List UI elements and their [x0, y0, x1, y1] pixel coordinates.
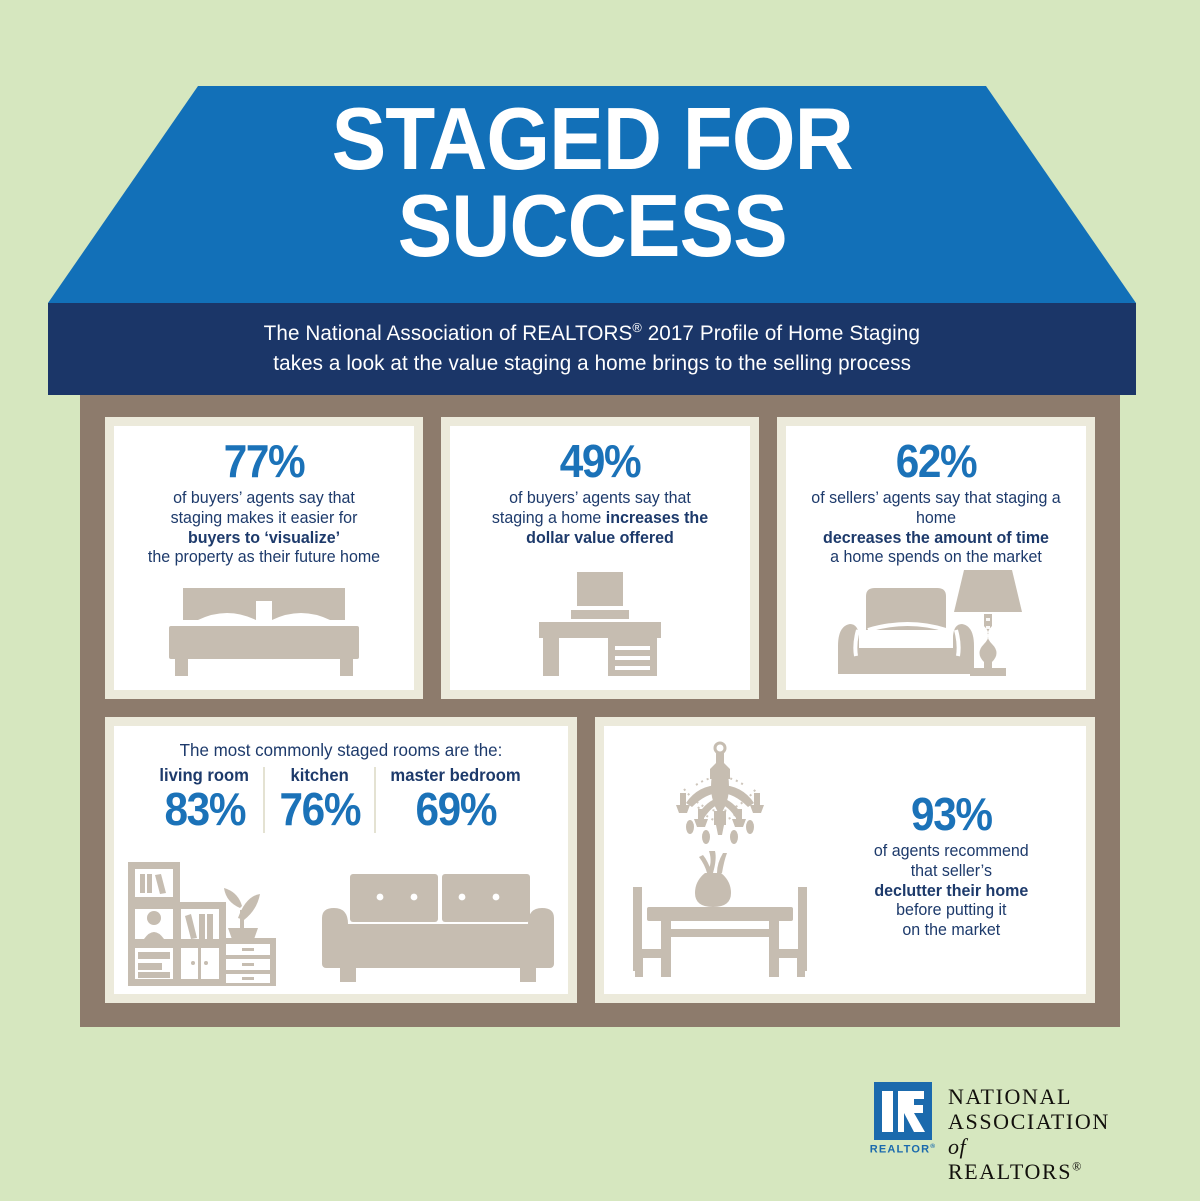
- stat-percent-93: 93%: [845, 791, 1059, 837]
- stat-card-declutter: 93% of agents recommend that seller’s de…: [595, 717, 1095, 1003]
- declutter-line-4: before putting it: [897, 901, 1007, 919]
- dining-table-icon: [631, 849, 809, 979]
- nar-logo-line-3-reg: ®: [1072, 1160, 1083, 1174]
- staged-rooms-row: living room 83% kitchen 76% master bedro…: [114, 767, 568, 833]
- nar-logo-line-3-text: REALTORS: [948, 1159, 1072, 1184]
- armchair-lamp-icon-area: [786, 568, 1086, 692]
- stats-grid: 77% of buyers’ agents say that staging m…: [80, 395, 1120, 1027]
- declutter-text: of agents recommend that seller’s declut…: [839, 842, 1065, 941]
- room-living-room: living room 83%: [146, 767, 262, 833]
- realtor-wordmark-text: REALTOR: [870, 1144, 931, 1156]
- declutter-inner: 93% of agents recommend that seller’s de…: [604, 726, 1086, 994]
- nar-logo-text: NATIONAL ASSOCIATION of REALTORS®: [948, 1082, 1112, 1184]
- desk-icon: [535, 570, 665, 678]
- stat-line-1: of buyers’ agents say that: [509, 489, 691, 507]
- room-percent-living-room: 83%: [164, 785, 245, 833]
- room-percent-master-bedroom: 69%: [416, 785, 497, 833]
- stats-row-bottom: The most commonly staged rooms are the: …: [105, 717, 1095, 1003]
- stat-line-1: of sellers’ agents say that staging a ho…: [811, 489, 1060, 527]
- declutter-icon-area: [604, 741, 835, 979]
- stat-text-dollar-value: of buyers’ agents say that staging a hom…: [455, 489, 746, 548]
- subtitle-band: The National Association of REALTORS® 20…: [48, 303, 1136, 395]
- room-master-bedroom: master bedroom 69%: [374, 767, 535, 833]
- realtor-r-icon: [874, 1082, 932, 1140]
- stat-card-dollar-value: 49% of buyers’ agents say that staging a…: [441, 417, 759, 699]
- stat-card-time-on-market: 62% of sellers’ agents say that staging …: [777, 417, 1095, 699]
- bed-icon-area: [114, 568, 414, 690]
- nar-logo-line-2-a: ASSOCIATION: [948, 1109, 1110, 1134]
- stat-line-3-bold: buyers to ‘visualize’: [188, 529, 340, 547]
- subtitle-line-2: takes a look at the value staging a home…: [273, 349, 911, 379]
- stat-line-3-bold: dollar value offered: [526, 529, 674, 547]
- staged-rooms-heading: The most commonly staged rooms are the:: [121, 740, 561, 761]
- desk-icon-area: [450, 548, 750, 690]
- infographic-canvas: STAGED FOR SUCCESS The National Associat…: [0, 0, 1200, 1201]
- stat-text-time-on-market: of sellers’ agents say that staging a ho…: [791, 489, 1082, 568]
- stat-line-2-bold: decreases the amount of time: [823, 529, 1049, 547]
- armchair-lamp-icon: [836, 568, 1036, 680]
- subtitle-line-1-a: The National Association of REALTORS: [264, 321, 633, 345]
- stat-line-3: a home spends on the market: [830, 548, 1042, 566]
- nar-logo-line-1: NATIONAL: [948, 1084, 1112, 1109]
- room-kitchen: kitchen 76%: [263, 767, 375, 833]
- stat-line-2-bold: increases the: [606, 509, 708, 527]
- room-percent-kitchen: 76%: [279, 785, 360, 833]
- chandelier-icon: [654, 741, 786, 849]
- realtor-wordmark: REALTOR®: [870, 1143, 937, 1156]
- realtor-wordmark-reg: ®: [930, 1143, 936, 1150]
- subtitle-line-1: The National Association of REALTORS® 20…: [264, 319, 920, 349]
- stat-line-1: of buyers’ agents say that: [173, 489, 355, 507]
- stat-line-2: staging makes it easier for: [171, 509, 358, 527]
- declutter-line-2: that seller’s: [911, 862, 992, 880]
- stat-line-2-pre: staging a home: [492, 509, 606, 527]
- realtor-block-r-icon: [874, 1082, 932, 1140]
- bookshelf-icon: [128, 860, 276, 986]
- declutter-line-1: of agents recommend: [874, 842, 1029, 860]
- declutter-text-area: 93% of agents recommend that seller’s de…: [835, 779, 1086, 941]
- stat-percent-77: 77%: [126, 438, 402, 484]
- nar-logo-line-3: REALTORS®: [948, 1159, 1112, 1184]
- stats-row-top: 77% of buyers’ agents say that staging m…: [105, 417, 1095, 699]
- declutter-line-3-bold: declutter their home: [875, 882, 1029, 900]
- stat-percent-49: 49%: [462, 438, 738, 484]
- nar-logo-line-2: ASSOCIATION of: [948, 1109, 1112, 1159]
- stat-card-staged-rooms: The most commonly staged rooms are the: …: [105, 717, 577, 1003]
- nar-logo: REALTOR® NATIONAL ASSOCIATION of REALTOR…: [872, 1082, 1112, 1162]
- house-roof-shape: [48, 86, 1136, 303]
- house-body: 77% of buyers’ agents say that staging m…: [80, 395, 1120, 1027]
- registered-mark-icon: ®: [632, 320, 642, 335]
- nar-logo-mark: REALTOR®: [872, 1082, 934, 1156]
- stat-percent-62: 62%: [798, 438, 1074, 484]
- stat-text-visualize: of buyers’ agents say that staging makes…: [119, 489, 410, 568]
- rooms-icon-area: [114, 833, 568, 994]
- stat-line-4: the property as their future home: [148, 548, 380, 566]
- stat-card-visualize: 77% of buyers’ agents say that staging m…: [105, 417, 423, 699]
- declutter-line-5: on the market: [903, 921, 1001, 939]
- sofa-icon: [322, 870, 554, 986]
- bed-icon: [169, 586, 359, 678]
- nar-logo-line-2-of: of: [948, 1134, 966, 1159]
- subtitle-line-1-b: 2017 Profile of Home Staging: [642, 321, 920, 345]
